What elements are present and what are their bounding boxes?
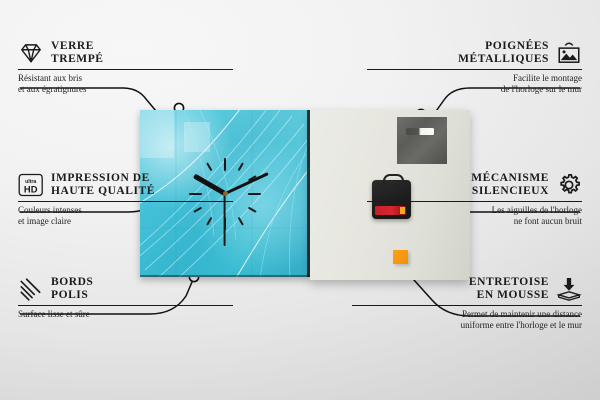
feature-title-line2: TREMPÉ bbox=[51, 53, 104, 66]
feature-divider bbox=[367, 201, 582, 202]
polished-edges-icon bbox=[18, 276, 44, 302]
feature-title-line1: POIGNÉES bbox=[458, 40, 549, 53]
feature-impression-haute-qualite: ultra HD IMPRESSION DE HAUTE QUALITÉ Cou… bbox=[18, 172, 233, 227]
feature-title-line2: MÉTALLIQUES bbox=[458, 53, 549, 66]
feature-subtitle-line1: Surface lisse et sûre bbox=[18, 309, 233, 320]
wall-hanger-icon bbox=[556, 40, 582, 66]
feature-divider bbox=[18, 201, 233, 202]
metal-hanger-plate bbox=[397, 117, 447, 164]
feature-divider bbox=[352, 305, 582, 306]
feature-divider bbox=[367, 69, 582, 70]
feature-subtitle-line1: Permet de maintenir une distance bbox=[352, 309, 582, 320]
feature-title-line2: SILENCIEUX bbox=[471, 185, 549, 198]
feature-subtitle-line2: et aux égratignures bbox=[18, 84, 233, 95]
svg-text:HD: HD bbox=[24, 183, 38, 194]
feature-title-line1: VERRE bbox=[51, 40, 104, 53]
feature-title-line1: ENTRETOISE bbox=[469, 276, 549, 289]
feature-bords-polis: BORDS POLIS Surface lisse et sûre bbox=[18, 276, 233, 320]
feature-subtitle-line2: de l'horloge sur le mur bbox=[367, 84, 582, 95]
feature-title-line2: EN MOUSSE bbox=[469, 289, 549, 302]
infographic-canvas: VERRE TREMPÉ Résistant aux bris et aux é… bbox=[0, 0, 600, 400]
feature-title-line1: IMPRESSION DE bbox=[51, 172, 155, 185]
feature-divider bbox=[18, 69, 233, 70]
feature-divider bbox=[18, 305, 233, 306]
feature-title-line2: HAUTE QUALITÉ bbox=[51, 185, 155, 198]
feature-title-line1: MÉCANISME bbox=[471, 172, 549, 185]
hanger-slot bbox=[406, 128, 434, 135]
feature-subtitle-line1: Facilite le montage bbox=[367, 73, 582, 84]
feature-subtitle-line2: et image claire bbox=[18, 216, 233, 227]
feature-title-line2: POLIS bbox=[51, 289, 93, 302]
feature-subtitle-line1: Résistant aux bris bbox=[18, 73, 233, 84]
feature-verre-trempe: VERRE TREMPÉ Résistant aux bris et aux é… bbox=[18, 40, 233, 95]
gear-icon bbox=[556, 172, 582, 198]
feature-entretoise-en-mousse: ENTRETOISE EN MOUSSE Permet de maintenir… bbox=[352, 276, 582, 331]
feature-title-line1: BORDS bbox=[51, 276, 93, 289]
feature-subtitle-line1: Les aiguilles de l'horloge bbox=[367, 205, 582, 216]
feature-subtitle-line2: ne font aucun bruit bbox=[367, 216, 582, 227]
feature-mecanisme-silencieux: MÉCANISME SILENCIEUX Les aiguilles de l'… bbox=[367, 172, 582, 227]
feature-subtitle-line2: uniforme entre l'horloge et le mur bbox=[352, 320, 582, 331]
diamond-icon bbox=[18, 40, 44, 66]
feature-poignees-metalliques: POIGNÉES MÉTALLIQUES Facilite le montage… bbox=[367, 40, 582, 95]
orange-foam-spacer bbox=[393, 250, 408, 264]
ultra-hd-icon: ultra HD bbox=[18, 172, 44, 198]
feature-subtitle-line1: Couleurs intenses bbox=[18, 205, 233, 216]
foam-spacer-icon bbox=[556, 276, 582, 302]
